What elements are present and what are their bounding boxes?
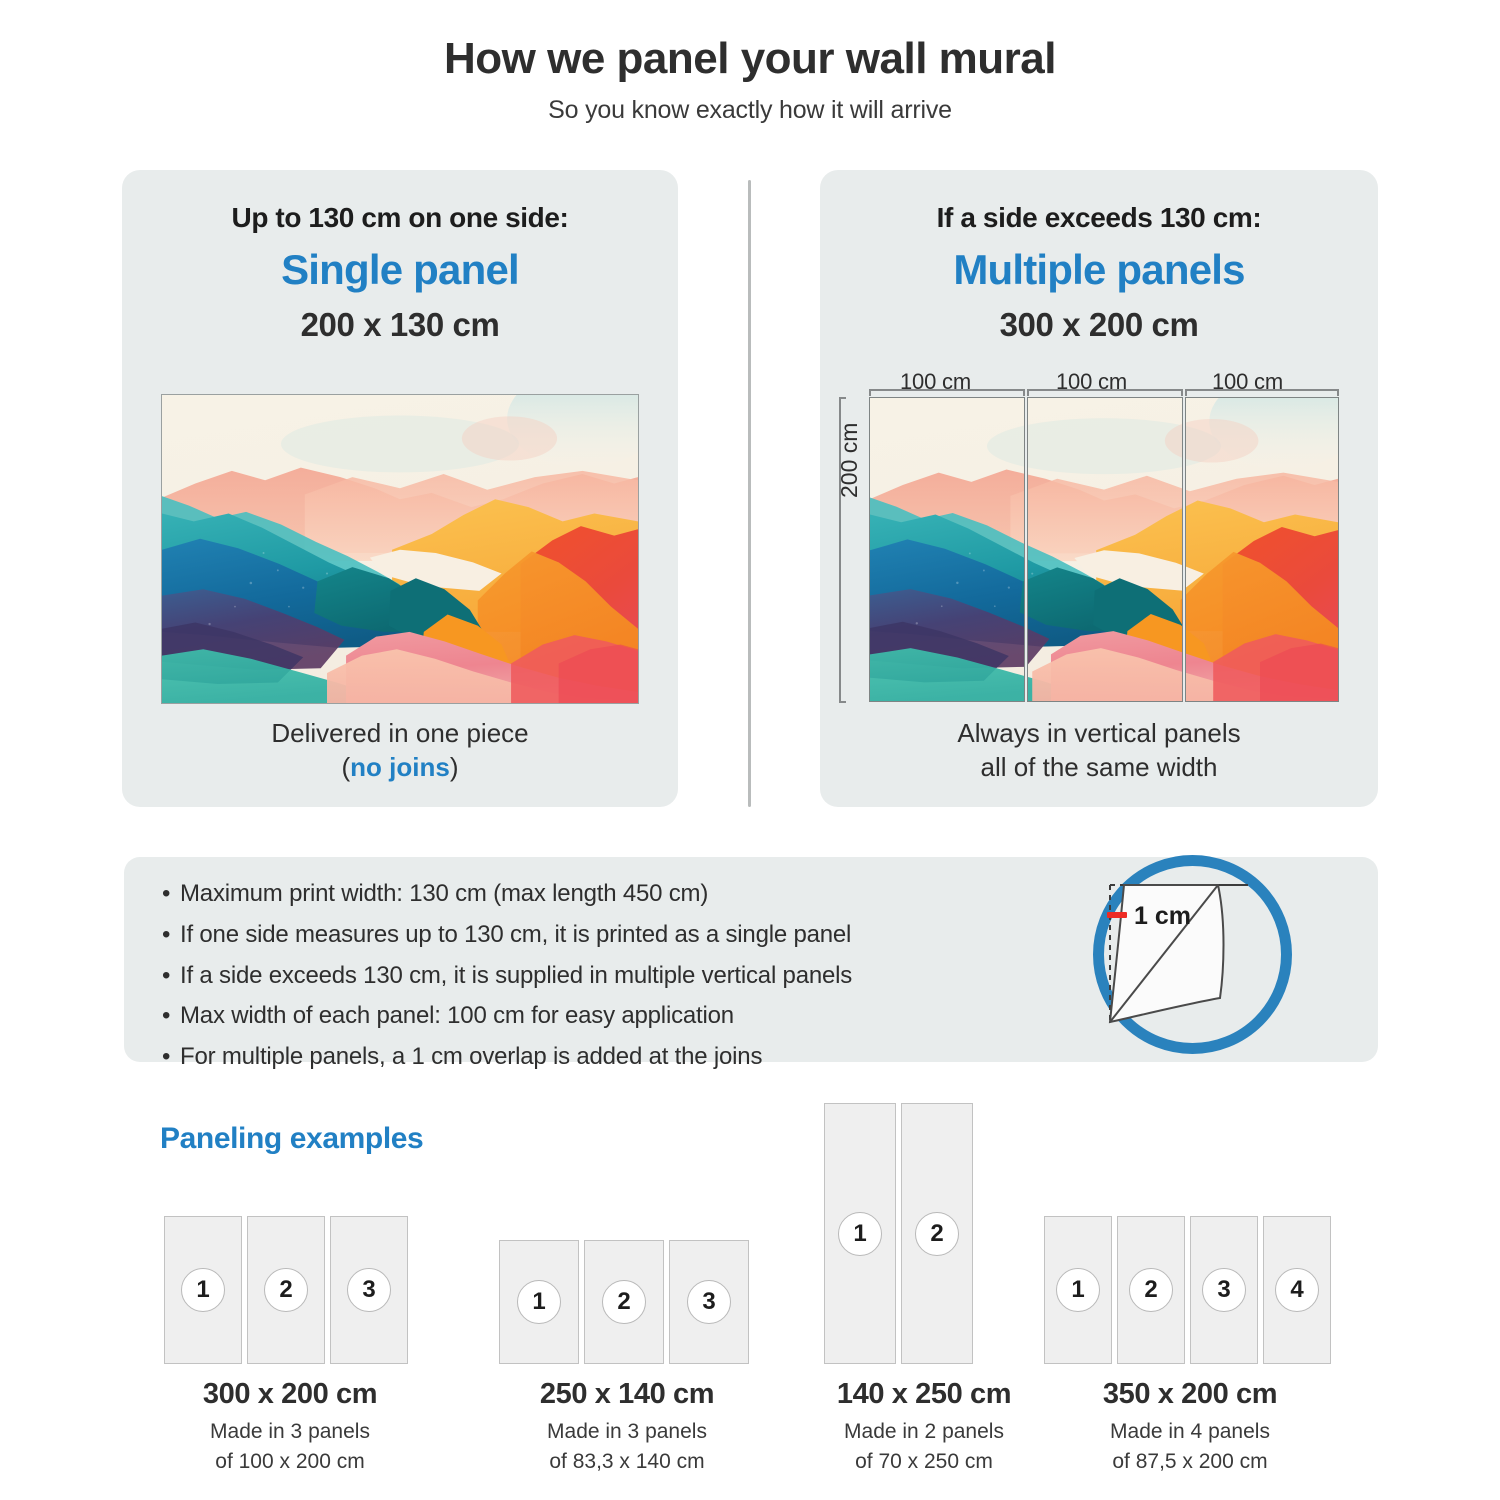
example-panel[interactable]: 2: [1117, 1216, 1185, 1364]
example-panel[interactable]: 1: [499, 1240, 579, 1364]
example-made-line2: of 87,5 x 200 cm: [1044, 1448, 1336, 1476]
example-made-line2: of 70 x 250 cm: [794, 1448, 1054, 1476]
bullet-icon: •: [162, 959, 180, 994]
overlap-label: 1 cm: [1134, 902, 1191, 930]
example-size: 300 x 200 cm: [160, 1378, 420, 1411]
example-made-line1: Made in 3 panels: [497, 1418, 757, 1446]
example-made-line2: of 83,3 x 140 cm: [497, 1448, 757, 1476]
panel-number: 4: [1275, 1268, 1319, 1312]
rule-item: • Max width of each panel: 100 cm for ea…: [162, 999, 1062, 1034]
mural-image: [162, 395, 638, 703]
example-250x140-caption: 250 x 140 cm Made in 3 panels of 83,3 x …: [497, 1378, 757, 1475]
example-250x140-panels: 1 2 3: [499, 1240, 749, 1364]
multiple-panels-dimensions: 300 x 200 cm: [820, 306, 1378, 344]
panel-number: 3: [687, 1280, 731, 1324]
panel-number: 3: [347, 1268, 391, 1312]
example-made-line1: Made in 4 panels: [1044, 1418, 1336, 1446]
panel-number: 2: [602, 1280, 646, 1324]
example-panel[interactable]: 1: [1044, 1216, 1112, 1364]
paneling-examples-title: Paneling examples: [160, 1122, 423, 1156]
multiple-panels-kicker: If a side exceeds 130 cm:: [820, 202, 1378, 234]
single-panel-kicker: Up to 130 cm on one side:: [122, 202, 678, 234]
example-140x250-panels: 1 2: [824, 1103, 973, 1364]
example-panel[interactable]: 1: [164, 1216, 242, 1364]
panel-number: 1: [181, 1268, 225, 1312]
page-subtitle: So you know exactly how it will arrive: [0, 96, 1500, 125]
multiple-panels-footer-line2: all of the same width: [820, 750, 1378, 785]
panel-number: 2: [264, 1268, 308, 1312]
example-300x200-panels: 1 2 3: [164, 1216, 408, 1364]
paren-close: ): [450, 752, 459, 782]
panel-number: 1: [838, 1212, 882, 1256]
example-panel[interactable]: 2: [901, 1103, 973, 1364]
example-140x250-caption: 140 x 250 cm Made in 2 panels of 70 x 25…: [794, 1378, 1054, 1475]
example-made-line1: Made in 3 panels: [160, 1418, 420, 1446]
example-made-line1: Made in 2 panels: [794, 1418, 1054, 1446]
bullet-icon: •: [162, 1040, 180, 1075]
mural-height-label: 200 cm: [836, 423, 863, 498]
bullet-icon: •: [162, 999, 180, 1034]
no-joins-accent: no joins: [350, 752, 450, 782]
rule-item: • Maximum print width: 130 cm (max lengt…: [162, 877, 1062, 912]
mural-panel-2-art: [1027, 398, 1183, 701]
multiple-panels-footer: Always in vertical panels all of the sam…: [820, 716, 1378, 785]
panel-number: 1: [1056, 1268, 1100, 1312]
single-panel-dimensions: 200 x 130 cm: [122, 306, 678, 344]
rule-item: • If a side exceeds 130 cm, it is suppli…: [162, 959, 1062, 994]
example-size: 350 x 200 cm: [1044, 1378, 1336, 1411]
rule-text: For multiple panels, a 1 cm overlap is a…: [180, 1040, 762, 1075]
rule-text: If one side measures up to 130 cm, it is…: [180, 918, 851, 953]
mural-panel-2: [1027, 397, 1183, 702]
panel-number: 2: [1129, 1268, 1173, 1312]
example-panel[interactable]: 2: [584, 1240, 664, 1364]
example-panel[interactable]: 3: [1190, 1216, 1258, 1364]
mural-panel-1: [869, 397, 1025, 702]
mural-preview-single: [161, 394, 639, 704]
multiple-panels-footer-line1: Always in vertical panels: [820, 716, 1378, 751]
example-panel[interactable]: 1: [824, 1103, 896, 1364]
mural-panel-1-art: [870, 398, 1025, 701]
single-panel-footer-line1: Delivered in one piece: [122, 716, 678, 751]
example-350x200-caption: 350 x 200 cm Made in 4 panels of 87,5 x …: [1044, 1378, 1336, 1475]
page-title: How we panel your wall mural: [0, 36, 1500, 82]
example-350x200-panels: 1 2 3 4: [1044, 1216, 1331, 1364]
example-size: 250 x 140 cm: [497, 1378, 757, 1411]
page-header: How we panel your wall mural So you know…: [0, 36, 1500, 125]
single-panel-headline: Single panel: [122, 246, 678, 294]
single-panel-footer: Delivered in one piece (no joins): [122, 716, 678, 785]
example-300x200-caption: 300 x 200 cm Made in 3 panels of 100 x 2…: [160, 1378, 420, 1475]
example-panel[interactable]: 2: [247, 1216, 325, 1364]
mural-panel-3-art: [1185, 398, 1338, 701]
rule-text: Maximum print width: 130 cm (max length …: [180, 877, 708, 912]
rule-text: Max width of each panel: 100 cm for easy…: [180, 999, 734, 1034]
multiple-panels-headline: Multiple panels: [820, 246, 1378, 294]
rule-text: If a side exceeds 130 cm, it is supplied…: [180, 959, 852, 994]
panel-number: 3: [1202, 1268, 1246, 1312]
panel-number: 1: [517, 1280, 561, 1324]
rule-item: • For multiple panels, a 1 cm overlap is…: [162, 1040, 1062, 1075]
mural-panel-3: [1185, 397, 1339, 702]
example-panel[interactable]: 3: [330, 1216, 408, 1364]
example-panel[interactable]: 3: [669, 1240, 749, 1364]
example-made-line2: of 100 x 200 cm: [160, 1448, 420, 1476]
mural-preview-panels: [869, 397, 1339, 702]
rule-item: • If one side measures up to 130 cm, it …: [162, 918, 1062, 953]
example-panel[interactable]: 4: [1263, 1216, 1331, 1364]
overlap-badge: 1 cm: [1090, 852, 1295, 1057]
paren-open: (: [341, 752, 350, 782]
panel-number: 2: [915, 1212, 959, 1256]
example-size: 140 x 250 cm: [794, 1378, 1054, 1411]
rules-list: • Maximum print width: 130 cm (max lengt…: [162, 877, 1062, 1081]
single-panel-footer-line2: (no joins): [122, 750, 678, 785]
bullet-icon: •: [162, 877, 180, 912]
overlap-diagram-icon: 1 cm: [1090, 852, 1295, 1057]
section-divider: [748, 180, 751, 807]
bullet-icon: •: [162, 918, 180, 953]
